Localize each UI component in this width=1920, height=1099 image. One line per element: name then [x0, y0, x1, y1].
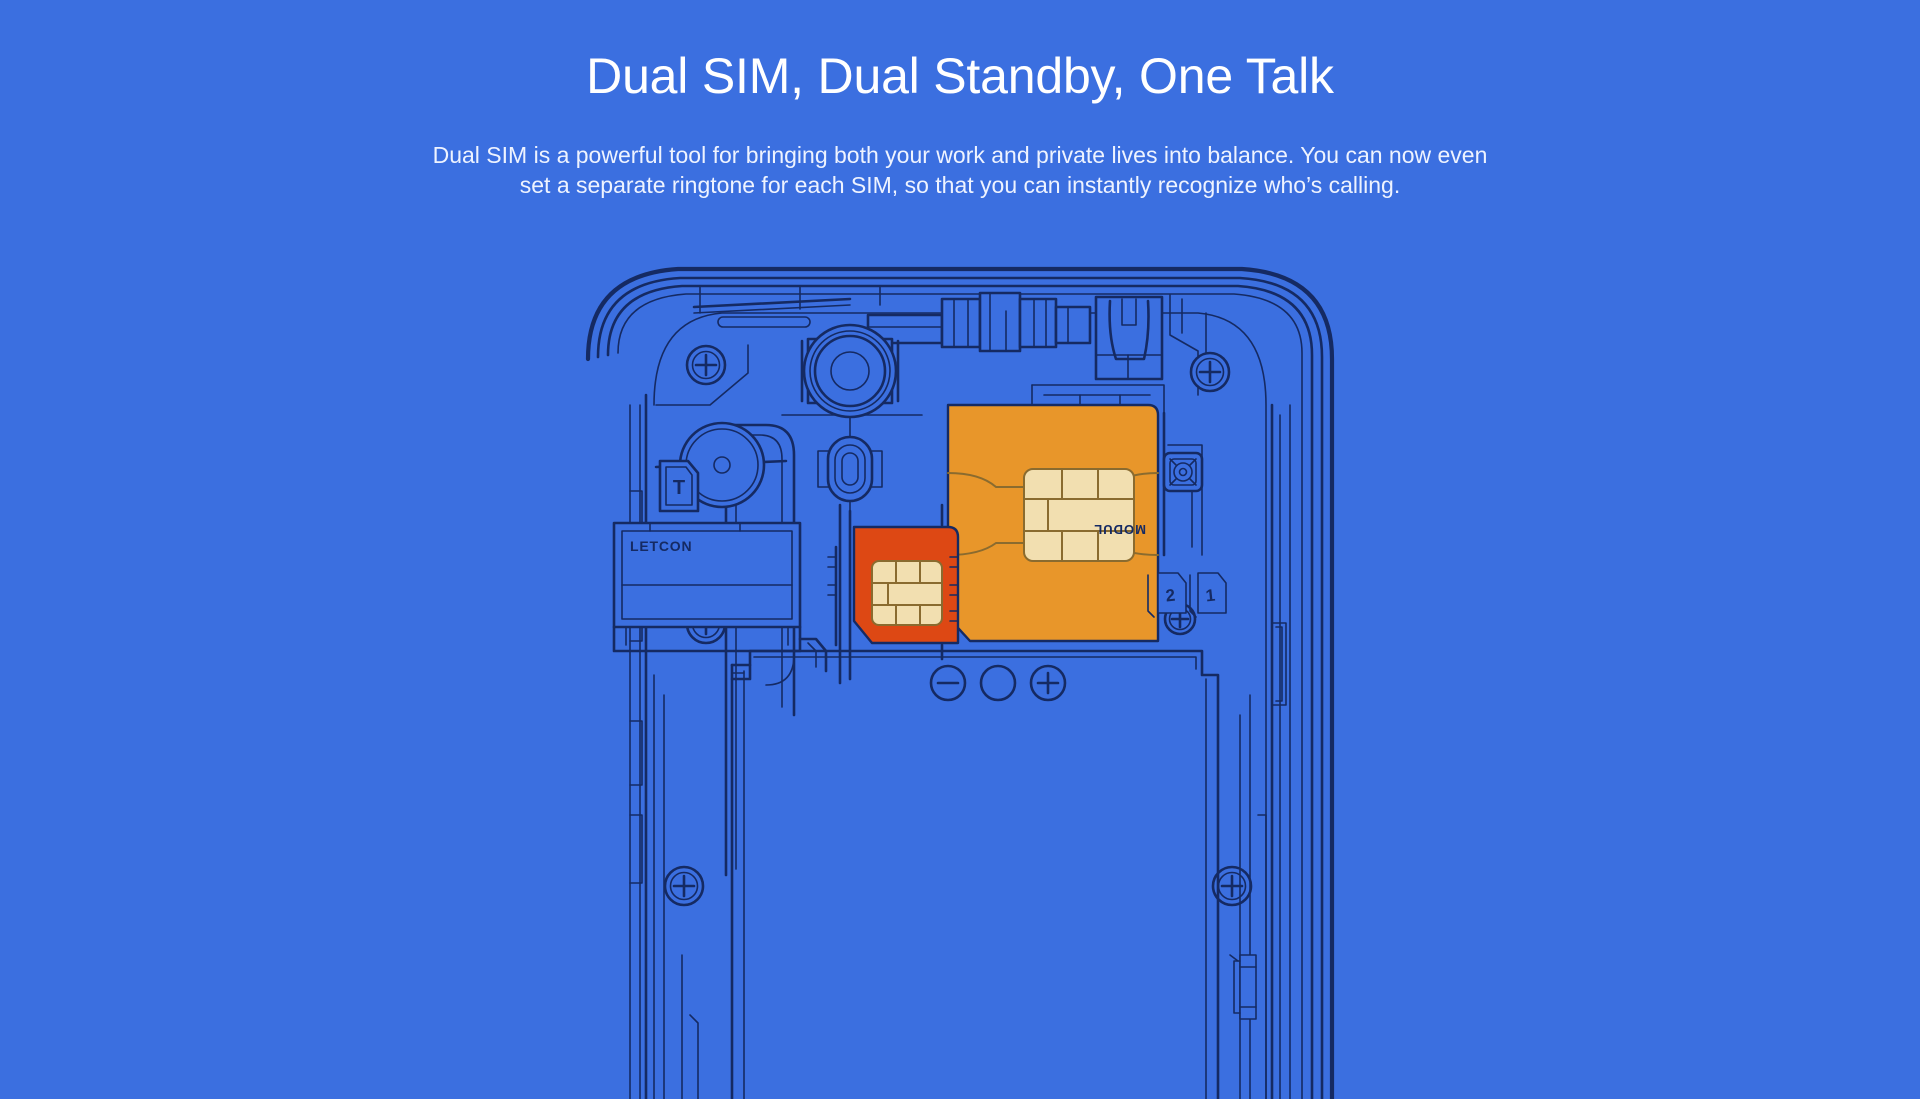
speaker-grille — [680, 423, 764, 507]
sim-slot-marker-1: 1 — [1190, 573, 1226, 617]
sim-slot-1-label: 1 — [1205, 586, 1216, 606]
microsd-slot: T — [660, 461, 698, 511]
microsd-icon-letter: T — [673, 477, 685, 499]
letcon-connector: LETCON — [614, 523, 826, 671]
connector-brand-label: LETCON — [630, 538, 692, 554]
hero-subtitle-line-1: Dual SIM is a powerful tool for bringing… — [340, 140, 1580, 171]
flash-module — [818, 437, 882, 523]
antenna-connector — [1164, 453, 1202, 491]
hero-subtitle-line-2: set a separate ringtone for each SIM, so… — [340, 170, 1580, 201]
battery-compartment — [732, 651, 1218, 1099]
screw-top-right — [1191, 353, 1229, 391]
sim-card-primary[interactable] — [854, 527, 958, 643]
sim-secondary-text: MODUL — [1093, 522, 1146, 537]
top-edge-assembly — [694, 281, 1206, 395]
volume-rocker — [630, 491, 642, 883]
hero-section: Dual SIM, Dual Standby, One Talk Dual SI… — [0, 0, 1920, 201]
page-title: Dual SIM, Dual Standby, One Talk — [0, 48, 1920, 106]
sim-bracket-teeth — [828, 505, 958, 659]
battery-terminals — [931, 666, 1065, 700]
screw-sim-bracket — [1165, 604, 1195, 634]
page-root: Dual SIM, Dual Standby, One Talk Dual SI… — [0, 0, 1920, 1099]
screw-bottom-right — [1213, 867, 1251, 905]
phone-diagram-svg: .ln { fill:none; stroke:#152a63; stroke-… — [550, 255, 1370, 1099]
phone-interior: T LETCON — [614, 281, 1286, 1099]
power-button — [1272, 623, 1286, 705]
phone-side-rails — [630, 395, 1290, 1099]
left-antenna-plate — [656, 345, 794, 875]
phone-diagram: .ln { fill:none; stroke:#152a63; stroke-… — [0, 255, 1920, 1099]
hero-subtitle: Dual SIM is a powerful tool for bringing… — [340, 140, 1580, 201]
sim-tray-bracket — [840, 385, 1202, 683]
phone-body-outline — [588, 269, 1332, 1099]
screw-bottom-left — [665, 867, 703, 905]
sim-slot-marker-2: 2 — [1148, 573, 1186, 617]
screw-mid-left — [687, 605, 725, 643]
lower-plate-detail — [654, 675, 1266, 1099]
sim-card-secondary[interactable]: MODUL — [948, 405, 1158, 641]
screw-top-left — [687, 346, 725, 384]
camera-module — [782, 325, 922, 455]
sim-slot-2-label: 2 — [1165, 586, 1176, 606]
